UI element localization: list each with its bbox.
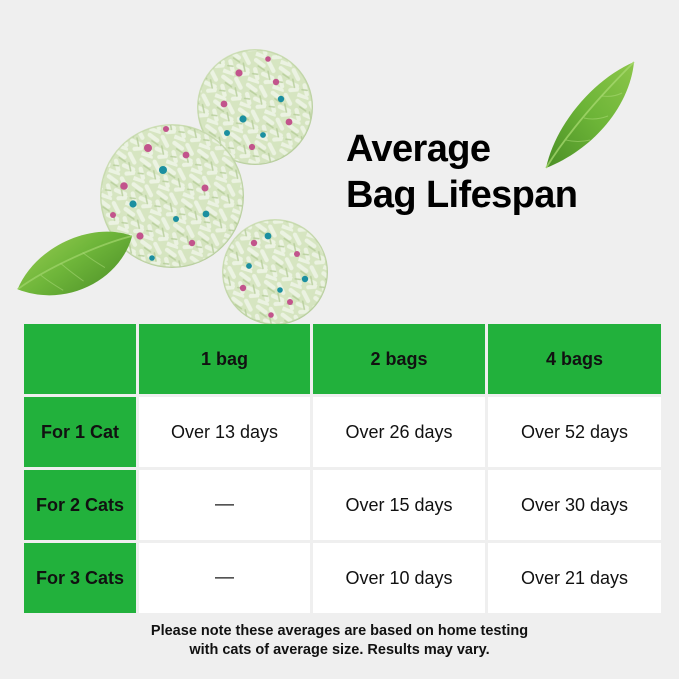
column-header-4-bags: 4 bags bbox=[488, 324, 661, 394]
table-corner-cell bbox=[24, 324, 136, 394]
cell-1cat-1bag: Over 13 days bbox=[139, 397, 310, 467]
litter-clump-right bbox=[222, 219, 328, 325]
litter-clump-top bbox=[197, 49, 313, 165]
cell-3cats-2bags: Over 10 days bbox=[313, 543, 485, 613]
page-title: Average Bag Lifespan bbox=[346, 126, 656, 218]
cell-3cats-1bag: — bbox=[139, 543, 310, 613]
cell-2cats-4bags: Over 30 days bbox=[488, 470, 661, 540]
column-header-1-bag: 1 bag bbox=[139, 324, 310, 394]
infographic-page: Average Bag Lifespan 1 bag 2 bags 4 bags… bbox=[0, 0, 679, 679]
litter-clump-large bbox=[100, 124, 244, 268]
footnote-disclaimer: Please note these averages are based on … bbox=[0, 622, 679, 660]
cell-2cats-1bag: — bbox=[139, 470, 310, 540]
cell-1cat-4bags: Over 52 days bbox=[488, 397, 661, 467]
cell-2cats-2bags: Over 15 days bbox=[313, 470, 485, 540]
row-header-for-2-cats: For 2 Cats bbox=[24, 470, 136, 540]
cell-3cats-4bags: Over 21 days bbox=[488, 543, 661, 613]
tea-leaf-left bbox=[9, 223, 142, 305]
column-header-2-bags: 2 bags bbox=[313, 324, 485, 394]
cell-1cat-2bags: Over 26 days bbox=[313, 397, 485, 467]
lifespan-table: 1 bag 2 bags 4 bags For 1 Cat Over 13 da… bbox=[24, 324, 655, 605]
row-header-for-1-cat: For 1 Cat bbox=[24, 397, 136, 467]
row-header-for-3-cats: For 3 Cats bbox=[24, 543, 136, 613]
